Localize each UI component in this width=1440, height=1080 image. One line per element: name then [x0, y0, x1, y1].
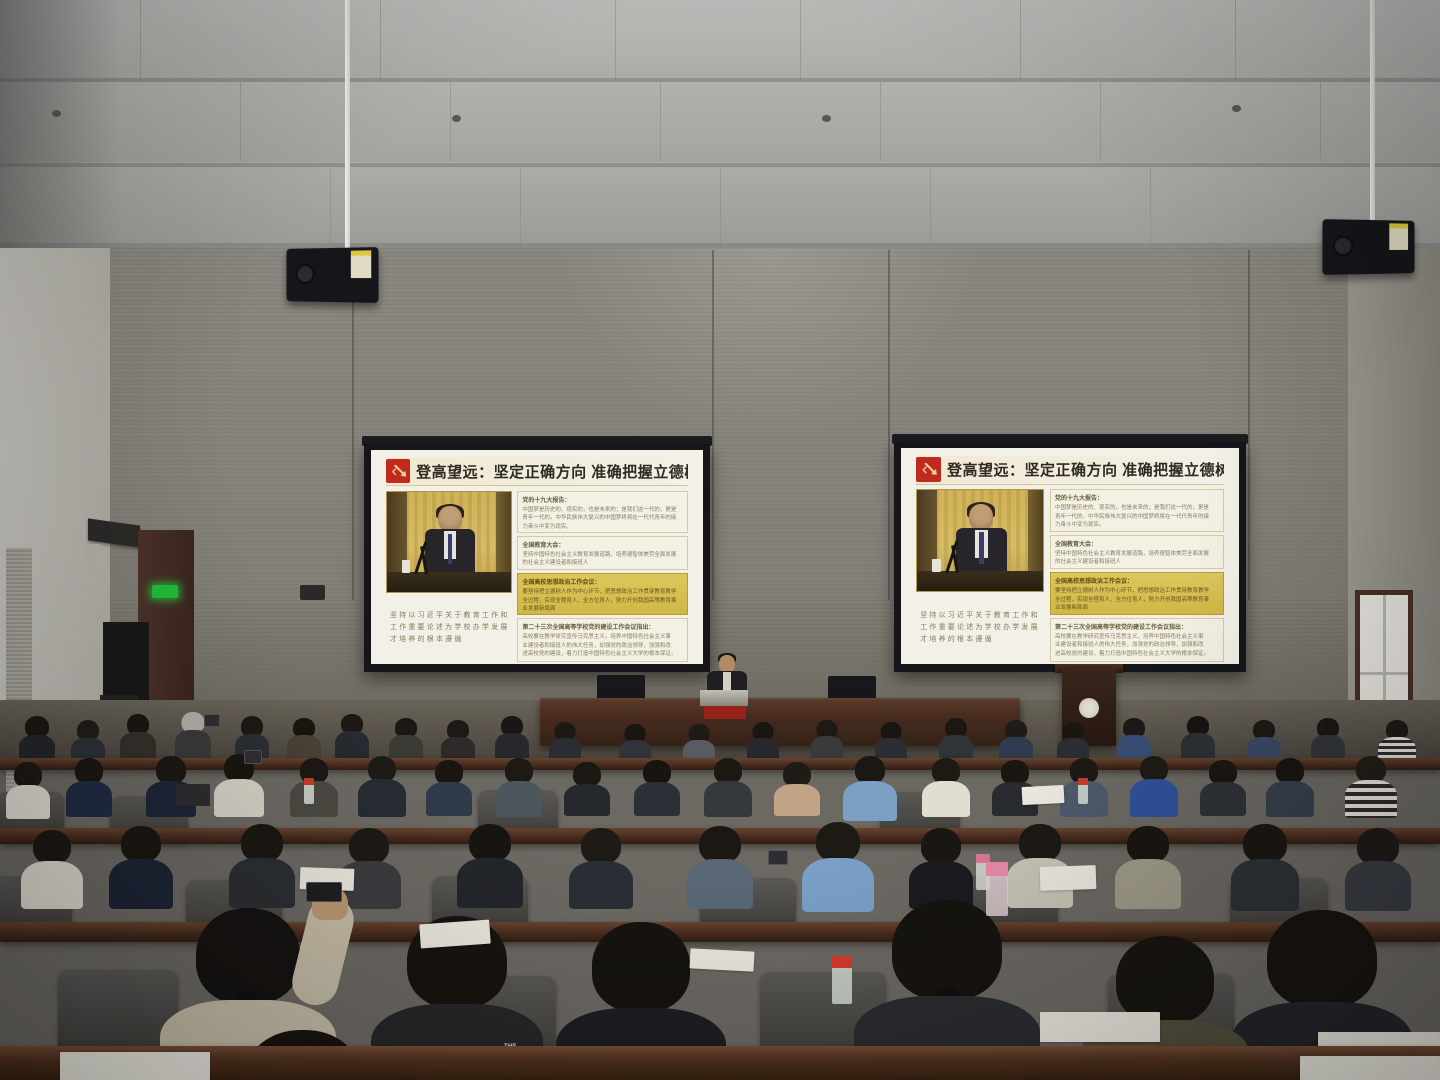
- slide-highlight-block: 全国高校思想政治工作会议： 要坚持把立德树人作为中心环节，把思想政治工作贯穿教育…: [1050, 572, 1224, 615]
- attendee-torso: [214, 779, 264, 817]
- presenter-shirt: [723, 672, 732, 690]
- attendee-torso: [21, 861, 83, 909]
- attendee: [1058, 722, 1088, 762]
- ceiling-grid-line: [330, 168, 331, 248]
- attendee: [1010, 824, 1070, 906]
- wall-speaker-icon: [300, 585, 325, 600]
- block-line: 业建设者和接班人的伟大任务，加强党的政治领导，加强和改: [1055, 641, 1219, 650]
- attendee-head: [33, 830, 71, 864]
- attendee: [292, 758, 336, 814]
- monitor-bracket: [86, 544, 100, 564]
- attendee: [360, 756, 404, 814]
- slide-text-block: 第二十三次全国高等学校党的建设工作会议指出： 高校要在教学研究宣传马克思主义，培…: [1050, 618, 1224, 662]
- block-line: 力奋斗中变为现实。: [1055, 521, 1219, 530]
- block-line: 高校要在教学研究宣传马克思主义，培养中国特色社会主义事: [522, 633, 683, 642]
- attendee-head: [1127, 826, 1169, 863]
- block-heading: 第二十三次全国高等学校党的建设工作会议指出：: [1055, 622, 1219, 631]
- slide-left-column: 坚持以习近平关于教育工作和青年 工作重要论述为学校办学发展和人 才培养的根本遵循: [386, 491, 510, 654]
- attendee: [572, 828, 630, 906]
- attendee: [550, 722, 580, 762]
- wall-seam: [888, 250, 890, 630]
- ceiling-grid-line: [380, 0, 381, 80]
- slide-left: 登高望远：坚定正确方向 准确把握立德树人根本遵循: [371, 450, 703, 664]
- block-heading: 全国教育大会：: [1055, 539, 1219, 548]
- attendee-torso: [634, 782, 680, 816]
- attendee-head: [592, 922, 690, 1012]
- bottle-cap: [304, 778, 314, 785]
- attendee: [812, 720, 842, 762]
- desk-row-front: [0, 1046, 1440, 1080]
- attendee: [1234, 824, 1296, 908]
- cpc-emblem-icon: [916, 457, 941, 482]
- block-heading: 全国高校思想政治工作会议：: [1055, 576, 1219, 585]
- attendee: [20, 716, 54, 760]
- ceiling-grid-line: [615, 0, 616, 80]
- ceiling-grid-line: [1100, 82, 1101, 162]
- attendee-head: [1356, 756, 1386, 783]
- smartphone-icon: [306, 882, 342, 902]
- laptop-icon: [176, 784, 210, 806]
- attendee-head: [699, 826, 741, 863]
- ceiling-grid-line: [720, 168, 721, 248]
- block-line: 进高校党的建设，着力打造中国特色社会主义大学的根本保证。: [522, 650, 683, 659]
- block-heading: 全国教育大会：: [522, 540, 683, 549]
- attendee-torso: [426, 782, 472, 816]
- attendee: [1118, 826, 1178, 906]
- attendee-torso: [496, 781, 542, 817]
- notebook: [1300, 1056, 1440, 1080]
- attendee-head: [469, 824, 511, 862]
- attendee: [1132, 756, 1176, 814]
- ceiling-sprinkler: [1232, 105, 1241, 112]
- ceiling-grid-line: [800, 0, 801, 80]
- block-line: 全过程，实现全程育人、全方位育人，努力开创我国高等教育事: [1055, 596, 1219, 605]
- attendee-torso: [1231, 859, 1299, 911]
- attendee: [690, 826, 750, 906]
- ceiling-seam: [0, 78, 1440, 82]
- projector-label-icon: [351, 255, 371, 278]
- block-line: 青年一代的。中华民族伟大复兴的中国梦终将在一代代青年的接: [1055, 513, 1219, 522]
- attendee: [1248, 720, 1280, 762]
- block-line: 要坚持把立德树人作为中心环节，把思想政治工作贯穿教育教学: [522, 588, 683, 597]
- calligraphy-block: 坚持以习近平关于教育工作和青年 工作重要论述为学校办学发展和人 才培养的根本遵循: [916, 596, 1042, 653]
- block-line: 业发展新局面: [522, 605, 683, 614]
- photo-subject: [424, 506, 476, 576]
- attendee: [498, 758, 540, 814]
- attendee-head: [1357, 828, 1399, 865]
- ceiling-projector: [1322, 219, 1414, 275]
- attendee: [1312, 718, 1344, 762]
- slide-right: 登高望远：坚定正确方向 准确把握立德树人根本遵循: [901, 448, 1239, 664]
- calligraphy-line: 工作重要论述为学校办学发展和人: [920, 622, 1040, 632]
- photo-subject-tie: [979, 532, 983, 563]
- block-line: 青年一代的。中华民族伟大复兴的中国梦终将在一代代青年的接: [522, 514, 683, 523]
- attendee: [566, 762, 608, 814]
- attendee-torso: [1200, 782, 1246, 816]
- projector-label-icon: [1389, 228, 1408, 250]
- projector-mount-pole: [1370, 0, 1375, 222]
- ceiling-band-1: [0, 0, 1440, 78]
- ceiling-grid-line: [520, 168, 521, 248]
- attendee: [706, 758, 750, 814]
- projector-lens-icon: [296, 264, 315, 284]
- attendee-torso: [704, 781, 752, 817]
- block-line: 坚持中国特色社会主义教育发展道路，培养德智体美劳全面发展: [522, 551, 683, 560]
- wall-light-glow: [560, 248, 980, 448]
- projection-screen-left: 登高望远：坚定正确方向 准确把握立德树人根本遵循: [364, 444, 710, 672]
- door-window-rail: [1360, 672, 1408, 675]
- attendee: [8, 762, 48, 814]
- attendee-torso: [290, 781, 338, 817]
- attendee: [460, 824, 520, 906]
- ceiling-grid-line: [930, 168, 931, 248]
- attendee-torso: [687, 859, 753, 909]
- ceiling-grid-line: [1235, 0, 1236, 80]
- block-line: 坚持中国特色社会主义教育发展道路，培养德智体美劳全面发展: [1055, 550, 1219, 559]
- block-heading: 全国高校思想政治工作会议：: [522, 577, 683, 586]
- slide-right-column: 党的十九大报告： 中国梦是历史的、现实的，也是未来的；是我们这一代的，更是 青年…: [517, 491, 688, 654]
- attendee: [72, 720, 104, 762]
- block-line: 要坚持把立德树人作为中心环节，把思想政治工作贯穿教育教学: [1055, 587, 1219, 596]
- notebook: [1040, 1012, 1160, 1042]
- block-line: 业建设者和接班人的伟大任务，加强党的政治领导，加强和改: [522, 642, 683, 651]
- projector-lens-icon: [1333, 236, 1353, 257]
- slide-text-block: 党的十九大报告： 中国梦是历史的、现实的，也是未来的；是我们这一代的，更是 青年…: [1050, 489, 1224, 532]
- attendee-torso: [358, 779, 406, 817]
- photo-cup: [402, 560, 411, 573]
- slide-body: 坚持以习近平关于教育工作和青年 工作重要论述为学校办学发展和人 才培养的根本遵循…: [386, 491, 688, 654]
- block-line: 中国梦是历史的、现实的，也是未来的；是我们这一代的，更是: [1055, 504, 1219, 513]
- notebook: [419, 920, 491, 949]
- ceiling-grid-line: [880, 82, 881, 162]
- slide-text-block: 全国教育大会： 坚持中国特色社会主义教育发展道路，培养德智体美劳全面发展 的社会…: [1050, 535, 1224, 569]
- attendee-torso: [843, 781, 897, 821]
- slide-text-block: 第二十三次全国高等学校党的建设工作会议指出： 高校要在教学研究宣传马克思主义，培…: [517, 618, 688, 662]
- ceiling-band-2: [0, 80, 1440, 162]
- attendee: [336, 714, 368, 758]
- attendee-head: [196, 908, 300, 1004]
- smartphone-icon: [204, 714, 220, 727]
- attendee-head: [121, 826, 161, 862]
- bottle-cap: [1078, 778, 1088, 785]
- attendee: [1000, 720, 1032, 762]
- ceiling-corner-shadow: [0, 0, 120, 250]
- attendee-head: [855, 756, 885, 784]
- lecture-hall-photo: 登高望远：坚定正确方向 准确把握立德树人根本遵循: [0, 0, 1440, 1080]
- attendee: [122, 714, 154, 758]
- attendee-torso: [1345, 780, 1397, 818]
- attendee-torso: [564, 784, 610, 816]
- attendee-torso: [229, 858, 295, 908]
- ceiling-grid-line: [660, 82, 661, 162]
- calligraphy-line: 坚持以习近平关于教育工作和青年: [920, 610, 1040, 620]
- attendee-head: [921, 828, 961, 864]
- calligraphy-line: 工作重要论述为学校办学发展和人: [390, 622, 508, 632]
- attendee-torso: [1345, 861, 1411, 911]
- attendee: [232, 824, 292, 906]
- slide-text-block: 党的十九大报告： 中国梦是历史的、现实的，也是未来的；是我们这一代的，更是 青年…: [517, 491, 688, 533]
- slide-text-block: 全国教育大会： 坚持中国特色社会主义教育发展道路，培养德智体美劳全面发展 的社会…: [517, 536, 688, 570]
- attendee-blue-shirt: [806, 822, 870, 908]
- block-line: 力奋斗中变为现实。: [522, 523, 683, 532]
- attendee-head: [1116, 936, 1214, 1024]
- block-line: 高校要在教学研究宣传马克思主义，培养中国特色社会主义事: [1055, 633, 1219, 642]
- attendee: [428, 760, 470, 814]
- thermos-flask: [986, 862, 1008, 916]
- ceiling-grid-line: [1150, 168, 1151, 248]
- water-bottle: [304, 778, 314, 804]
- attendee-striped: [1348, 756, 1394, 814]
- attendee: [1348, 828, 1408, 908]
- attendee-torso: [109, 859, 173, 909]
- slide-body: 坚持以习近平关于教育工作和青年 工作重要论述为学校办学发展和人 才培养的根本遵循…: [916, 489, 1224, 653]
- exit-sign-icon: [152, 585, 178, 598]
- smartphone-icon: [768, 850, 788, 865]
- block-line: 的社会主义建设者和接班人: [522, 559, 683, 568]
- wall-seam: [712, 250, 714, 630]
- cpc-emblem-icon: [386, 459, 410, 483]
- slide-right-column: 党的十九大报告： 中国梦是历史的、现实的，也是未来的；是我们这一代的，更是 青年…: [1050, 489, 1224, 653]
- attendee: [496, 716, 528, 760]
- slide-title-text: 登高望远：坚定正确方向 准确把握立德树人根本遵循: [947, 459, 1224, 480]
- ceiling: [0, 0, 1440, 250]
- water-bottle: [832, 956, 852, 1004]
- attendee-torso: [922, 781, 970, 817]
- attendee-head: [241, 824, 283, 862]
- ceiling-grid-line: [1320, 82, 1321, 162]
- attendee: [1182, 716, 1214, 760]
- left-side-wall: [0, 248, 110, 738]
- calligraphy-line: 坚持以习近平关于教育工作和青年: [390, 610, 508, 620]
- photo-subject-head: [969, 504, 993, 531]
- attendee-head: [1243, 824, 1287, 863]
- attendee-torso: [6, 785, 50, 819]
- block-line: 全过程，实现全程育人、全方位育人，努力开创我国高等教育事: [522, 597, 683, 606]
- calligraphy-block: 坚持以习近平关于教育工作和青年 工作重要论述为学校办学发展和人 才培养的根本遵循: [386, 597, 510, 654]
- notebook: [1040, 865, 1097, 891]
- attendee: [112, 826, 170, 906]
- audience: THE NORTH FACE: [0, 700, 1440, 1080]
- attendee-torso: [1266, 781, 1314, 817]
- attendee: [68, 758, 110, 814]
- block-line: 的社会主义建设者和接班人: [1055, 558, 1219, 567]
- projector-mount-pole: [345, 0, 350, 250]
- attendee: [288, 718, 320, 760]
- ceiling-sprinkler: [452, 115, 461, 122]
- attendee: [340, 828, 398, 906]
- attendee-torso: [1130, 779, 1178, 817]
- photo-subject-head: [438, 506, 462, 533]
- block-line: 进高校党的建设，着力打造中国特色社会主义大学的根本保证。: [1055, 650, 1219, 659]
- ceiling-grid-line: [240, 82, 241, 162]
- attendee-blue-shirt: [846, 756, 894, 816]
- notebook: [60, 1052, 210, 1080]
- attendee-torso: [457, 858, 523, 908]
- attendee-head: [1267, 910, 1377, 1008]
- attendee: [940, 718, 972, 762]
- notebook: [1022, 785, 1065, 805]
- ceiling-projector: [286, 247, 378, 303]
- smartphone-icon: [244, 750, 262, 764]
- slide-title-text: 登高望远：坚定正确方向 准确把握立德树人根本遵循: [416, 461, 688, 482]
- attendee: [924, 758, 968, 814]
- leader-photo: [386, 491, 512, 593]
- slide-highlight-block: 全国高校思想政治工作会议： 要坚持把立德树人作为中心环节，把思想政治工作贯穿教育…: [517, 573, 688, 615]
- ceiling-grid-line: [1020, 0, 1021, 80]
- slide-title-bar: 登高望远：坚定正确方向 准确把握立德树人根本遵循: [916, 456, 1224, 485]
- bottle-cap: [832, 956, 852, 968]
- slide-title-bar: 登高望远：坚定正确方向 准确把握立德树人根本遵循: [386, 457, 688, 486]
- attendee-torso: [1115, 859, 1181, 909]
- photo-desk: [917, 571, 1043, 591]
- attendee: [442, 720, 474, 760]
- attendee: [1202, 760, 1244, 814]
- attendee-head: [816, 822, 860, 862]
- attendee: [24, 830, 80, 906]
- attendee-torso: [569, 861, 633, 909]
- block-line: 中国梦是历史的、现实的，也是未来的；是我们这一代的，更是: [522, 506, 683, 515]
- block-heading: 党的十九大报告：: [1055, 493, 1219, 502]
- calligraphy-line: 才培养的根本遵循: [390, 634, 508, 644]
- attendee: [1268, 758, 1312, 814]
- attendee-head: [156, 756, 186, 784]
- attendee-head: [581, 828, 621, 864]
- photo-subject-tie: [448, 534, 452, 565]
- projection-screen-right: 登高望远：坚定正确方向 准确把握立德树人根本遵循: [894, 442, 1246, 672]
- block-line: 业发展新局面: [1055, 604, 1219, 613]
- ceiling-seam: [0, 163, 1440, 167]
- water-bottle: [1078, 778, 1088, 804]
- ceiling-sprinkler: [822, 115, 831, 122]
- photo-desk: [387, 572, 511, 592]
- slide-left-column: 坚持以习近平关于教育工作和青年 工作重要论述为学校办学发展和人 才培养的根本遵循: [916, 489, 1042, 653]
- attendee: [776, 762, 818, 814]
- attendee: [912, 828, 970, 906]
- calligraphy-line: 才培养的根本遵循: [920, 634, 1040, 644]
- attendee: [390, 718, 422, 760]
- block-heading: 第二十三次全国高等学校党的建设工作会议指出：: [522, 622, 683, 631]
- ceiling-grid-line: [450, 82, 451, 162]
- notebook: [690, 948, 755, 971]
- attendee-torso: [774, 784, 820, 816]
- attendee-torso: [66, 781, 112, 817]
- attendee-head: [1019, 824, 1061, 862]
- leader-photo: [916, 489, 1044, 592]
- block-heading: 党的十九大报告：: [522, 495, 683, 504]
- attendee-head: [349, 828, 389, 864]
- ceiling-grid-line: [140, 0, 141, 80]
- photo-cup: [932, 559, 941, 572]
- bottle-cap: [986, 862, 1008, 876]
- photo-subject: [955, 504, 1008, 575]
- attendee: [636, 760, 678, 814]
